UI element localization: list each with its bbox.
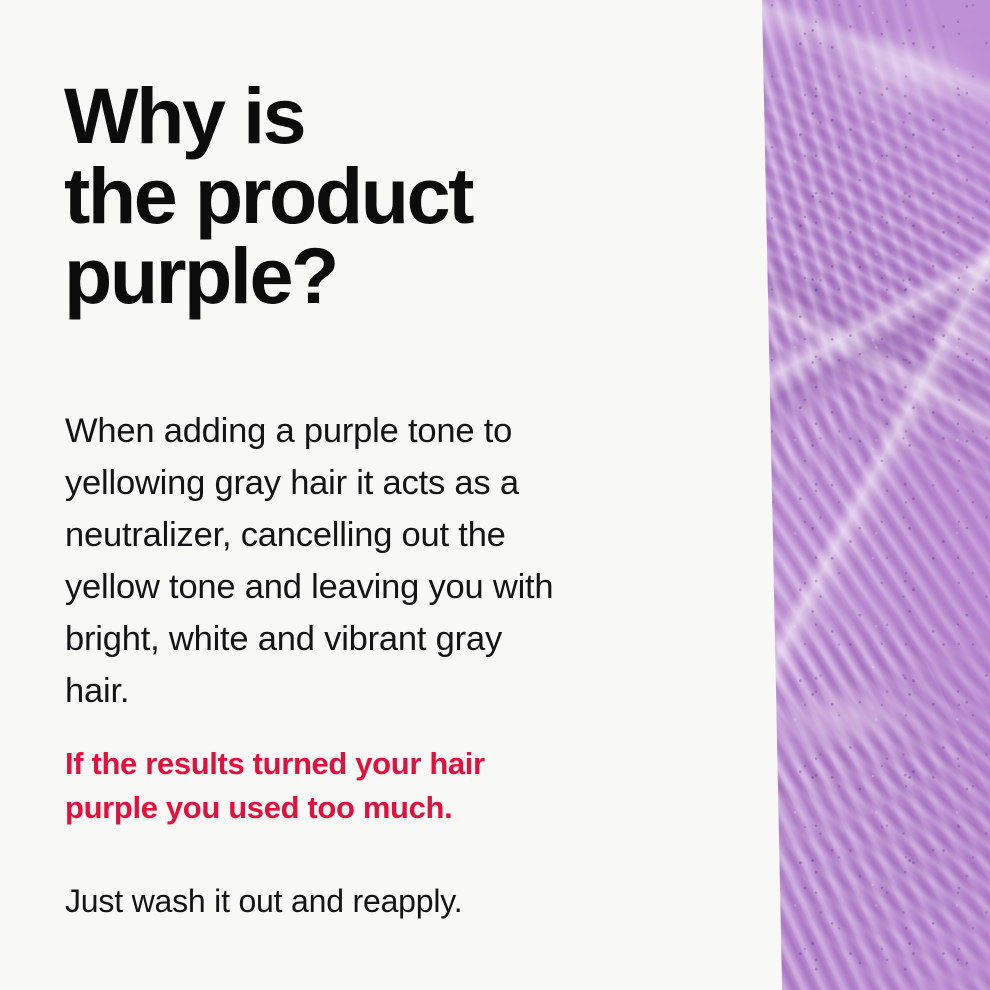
text-column: Why is the product purple? When adding a… <box>0 0 600 990</box>
infographic-card: Why is the product purple? When adding a… <box>0 0 990 990</box>
product-texture-image <box>570 0 990 990</box>
product-texture-photo <box>570 0 990 990</box>
warning-paragraph: If the results turned your hair purple y… <box>65 742 575 830</box>
page-title: Why is the product purple? <box>64 76 574 316</box>
body-paragraph: When adding a purple tone to yellowing g… <box>65 405 575 717</box>
closing-paragraph: Just wash it out and reapply. <box>65 878 575 924</box>
texture-pigment-speckle <box>570 0 990 990</box>
